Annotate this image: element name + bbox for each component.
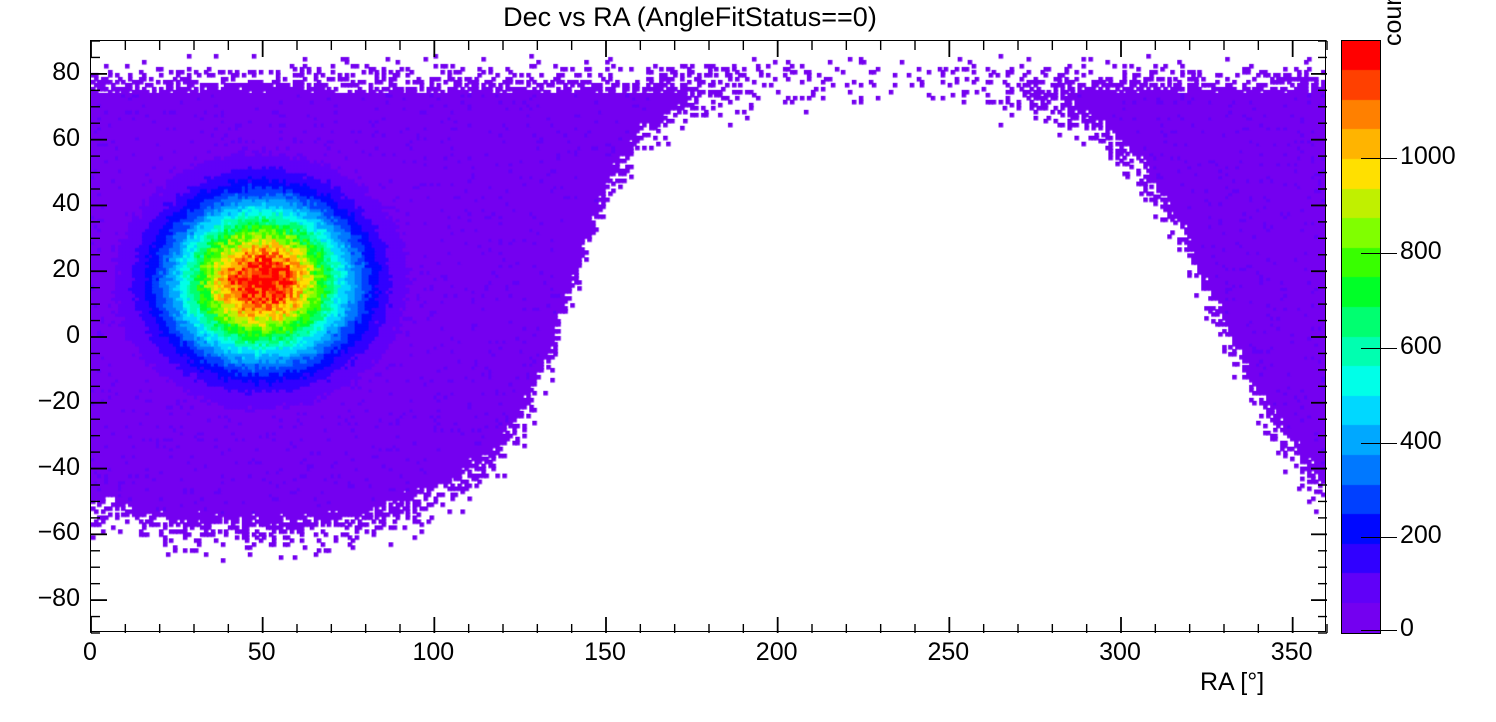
color-bar-tick-label: 200 (1400, 521, 1442, 550)
x-tick-label: 250 (888, 638, 1008, 667)
color-bar-tick (1361, 537, 1397, 538)
color-bar-tick-label: 800 (1400, 237, 1442, 266)
y-tick-label: −60 (0, 518, 80, 547)
x-tick-label: 0 (30, 638, 150, 667)
histogram-heatmap (91, 41, 1325, 631)
x-tick-label: 50 (202, 638, 322, 667)
y-tick-label: 60 (0, 124, 80, 153)
color-bar-tick (1361, 443, 1397, 444)
y-tick-label: 80 (0, 58, 80, 87)
color-bar-tick (1361, 253, 1397, 254)
color-bar-tick-label: 600 (1400, 332, 1442, 361)
x-tick-label: 350 (1232, 638, 1352, 667)
x-tick-label: 200 (717, 638, 837, 667)
color-bar-title: count (1379, 0, 1408, 46)
x-tick-label: 100 (373, 638, 493, 667)
color-bar-tick-label: 1000 (1400, 142, 1456, 171)
color-bar (1341, 40, 1381, 634)
color-bar-tick-label: 400 (1400, 427, 1442, 456)
color-bar-tick (1361, 158, 1397, 159)
plot-frame (90, 40, 1326, 632)
y-tick-label: 0 (0, 321, 80, 350)
color-bar-tick-label: 0 (1400, 614, 1414, 643)
y-tick-label: −40 (0, 453, 80, 482)
x-tick-label: 150 (545, 638, 665, 667)
color-bar-tick (1361, 348, 1397, 349)
y-tick-label: 20 (0, 255, 80, 284)
color-bar-tick (1361, 630, 1397, 631)
y-tick-label: −20 (0, 387, 80, 416)
x-tick-label: 300 (1060, 638, 1180, 667)
y-tick-label: 40 (0, 189, 80, 218)
chart-canvas-root: Dec vs RA (AngleFitStatus==0) 0501001502… (0, 0, 1496, 722)
x-axis-title: RA [°] (1200, 668, 1264, 697)
color-bar-gradient (1342, 41, 1380, 633)
y-tick-label: −80 (0, 584, 80, 613)
page-title: Dec vs RA (AngleFitStatus==0) (0, 2, 1380, 33)
